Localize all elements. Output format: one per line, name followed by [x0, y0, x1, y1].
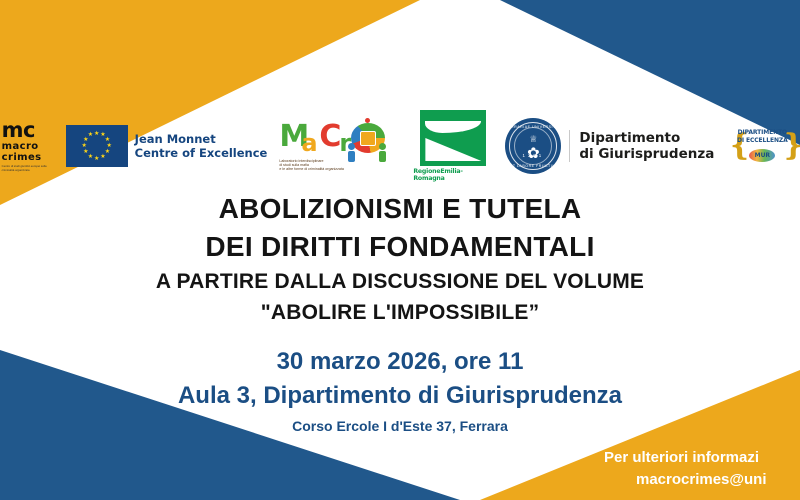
jean-monnet-text: Jean Monnet Centre of Excellence: [135, 132, 268, 160]
event-address: Corso Ercole I d'Este 37, Ferrara: [0, 415, 800, 437]
unife-seal-icon: FERRARIAE UNIVERSITAS ♕✿ 1391 ET LABORE …: [505, 118, 561, 174]
mur-badge-text: MUR: [755, 152, 770, 159]
laurel-left-icon: ❴: [727, 120, 744, 172]
unife-seal-top-text: FERRARIAE UNIVERSITAS: [505, 125, 561, 129]
page-title-line2: DEI DIRITTI FONDAMENTALI: [0, 228, 800, 266]
page-title-line1: ABOLIZIONISMI E TUTELA: [0, 190, 800, 228]
logo-dipartimento-eccellenza: ❴ ❵ DIPARTIMENTO DI ECCELLENZA MUR: [726, 113, 798, 179]
eu-star-icon: ★: [100, 154, 105, 160]
footer-contact: Per ulteriori informazi macrocrimes@uni: [604, 447, 800, 491]
laurel-right-icon: ❵: [780, 120, 797, 172]
regione-mark-icon: [420, 110, 486, 166]
macrocrimes-line2: crimes: [2, 153, 42, 163]
unife-seal-bottom-text: ET LABORE FRUCTUS: [505, 164, 561, 168]
event-venue: Aula 3, Dipartimento di Giurisprudenza: [0, 379, 800, 413]
logo-macro-lab: M a C r Laboratorio interdisciplinare d: [279, 120, 401, 173]
subtitle-line1: A PARTIRE DALLA DISCUSSIONE DEL VOLUME: [0, 266, 800, 297]
macro-letter-a: a: [301, 128, 316, 158]
unife-seal-year: 1391: [505, 153, 561, 158]
macrocrimes-tagline: Centro di studi giuridici europei sulla …: [2, 165, 54, 172]
footer-email[interactable]: macrocrimes@uni: [604, 469, 800, 491]
event-poster: mc macro crimes Centro di studi giuridic…: [0, 0, 800, 500]
logo-macrocrimes: mc macro crimes Centro di studi giuridic…: [2, 120, 54, 172]
eu-star-icon: ★: [81, 143, 86, 149]
eu-star-icon: ★: [88, 132, 93, 138]
eu-star-icon: ★: [94, 156, 99, 162]
unife-dept-line1: Dipartimento: [579, 130, 714, 146]
eccellenza-title: DIPARTIMENTO DI ECCELLENZA: [737, 129, 788, 144]
macrocrimes-line1: macro: [2, 142, 39, 152]
sponsor-logo-strip: mc macro crimes Centro di studi giuridic…: [0, 104, 800, 188]
eu-star-icon: ★: [94, 131, 99, 137]
jean-monnet-line2: Centre of Excellence: [135, 146, 268, 160]
mur-badge-icon: MUR: [747, 147, 777, 163]
logo-jean-monnet: ★★★★★★★★★★★★ Jean Monnet Centre of Excel…: [66, 125, 268, 167]
macro-tagline3: e le altre forme di criminalità organizz…: [279, 167, 344, 172]
logo-regione-emilia-romagna: RegioneEmilia-Romagna: [413, 110, 493, 182]
logo-unife: FERRARIAE UNIVERSITAS ♕✿ 1391 ET LABORE …: [505, 118, 714, 174]
macrocrimes-mark: mc: [2, 120, 35, 141]
macro-letter-c: C: [319, 122, 340, 152]
unife-dept-text: Dipartimento di Giurisprudenza: [569, 130, 714, 163]
poster-content: ABOLIZIONISMI E TUTELA DEI DIRITTI FONDA…: [0, 190, 800, 437]
eccellenza-line1: DIPARTIMENTO: [737, 129, 788, 137]
macro-wordmark: M a C r: [279, 120, 401, 160]
macro-figure-red: [365, 118, 370, 123]
macrocrimes-mark-text: mc: [2, 118, 35, 142]
regione-name: RegioneEmilia-Romagna: [413, 168, 493, 182]
eu-star-icon: ★: [83, 149, 88, 155]
macrocrimes-dot-icon: [29, 113, 38, 122]
eu-flag-icon: ★★★★★★★★★★★★: [66, 125, 128, 167]
eu-star-icon: ★: [106, 143, 111, 149]
jean-monnet-line1: Jean Monnet: [135, 132, 268, 146]
macro-figure-blue: [348, 143, 355, 162]
unife-dept-line2: di Giurisprudenza: [579, 146, 714, 162]
eu-star-icon: ★: [105, 137, 110, 143]
eccellenza-line2: DI ECCELLENZA: [737, 137, 788, 145]
subtitle-line2: "ABOLIRE L'IMPOSSIBILE”: [0, 297, 800, 328]
event-date: 30 marzo 2026, ore 11: [0, 345, 800, 379]
macro-figure-green: [379, 143, 386, 162]
footer-info-label: Per ulteriori informazi: [604, 447, 800, 469]
